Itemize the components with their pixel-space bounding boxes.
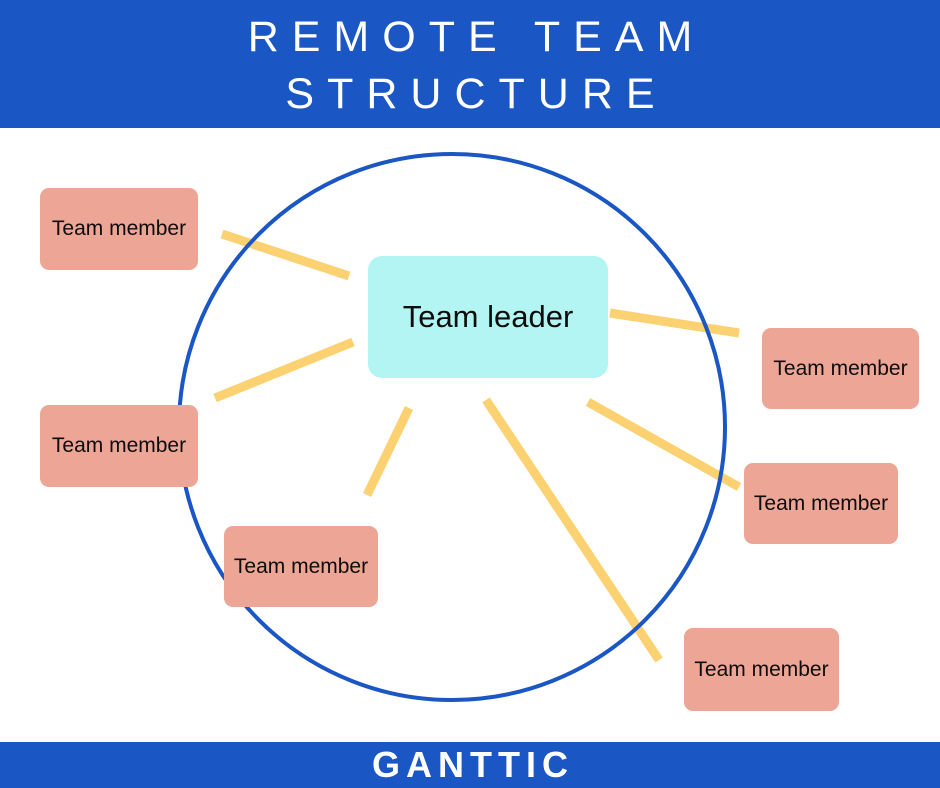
- connector-line-4: [486, 400, 659, 660]
- team-member-node-3-label: Team member: [234, 552, 368, 582]
- team-leader-node[interactable]: Team leader: [368, 256, 608, 378]
- ganttic-logo: GANTTIC: [366, 747, 574, 783]
- team-member-node-1-label: Team member: [52, 214, 186, 244]
- team-member-node-3[interactable]: Team member: [224, 526, 378, 607]
- team-member-node-5-label: Team member: [754, 489, 888, 519]
- team-member-node-6-label: Team member: [694, 655, 828, 685]
- connector-line-6: [588, 402, 739, 487]
- footer-banner: GANTTIC: [0, 742, 940, 788]
- page-title-line-1: REMOTE TEAM: [235, 9, 706, 66]
- team-member-node-6[interactable]: Team member: [684, 628, 839, 711]
- connector-line-2: [215, 342, 353, 398]
- team-member-node-4-label: Team member: [773, 354, 907, 384]
- team-member-node-4[interactable]: Team member: [762, 328, 919, 409]
- org-boundary-circle: [179, 154, 725, 700]
- diagram-stage: Team leaderTeam memberTeam memberTeam me…: [0, 128, 940, 742]
- team-member-node-2-label: Team member: [52, 431, 186, 461]
- connector-line-5: [610, 313, 739, 333]
- team-member-node-5[interactable]: Team member: [744, 463, 898, 544]
- connector-line-3: [367, 408, 409, 495]
- team-member-node-2[interactable]: Team member: [40, 405, 198, 487]
- team-member-node-1[interactable]: Team member: [40, 188, 198, 270]
- page-title-line-2: STRUCTURE: [272, 66, 667, 123]
- diagram-canvas: REMOTE TEAM STRUCTURE Team leaderTeam me…: [0, 0, 940, 788]
- header-banner: REMOTE TEAM STRUCTURE: [0, 0, 940, 128]
- team-leader-node-label: Team leader: [403, 295, 574, 339]
